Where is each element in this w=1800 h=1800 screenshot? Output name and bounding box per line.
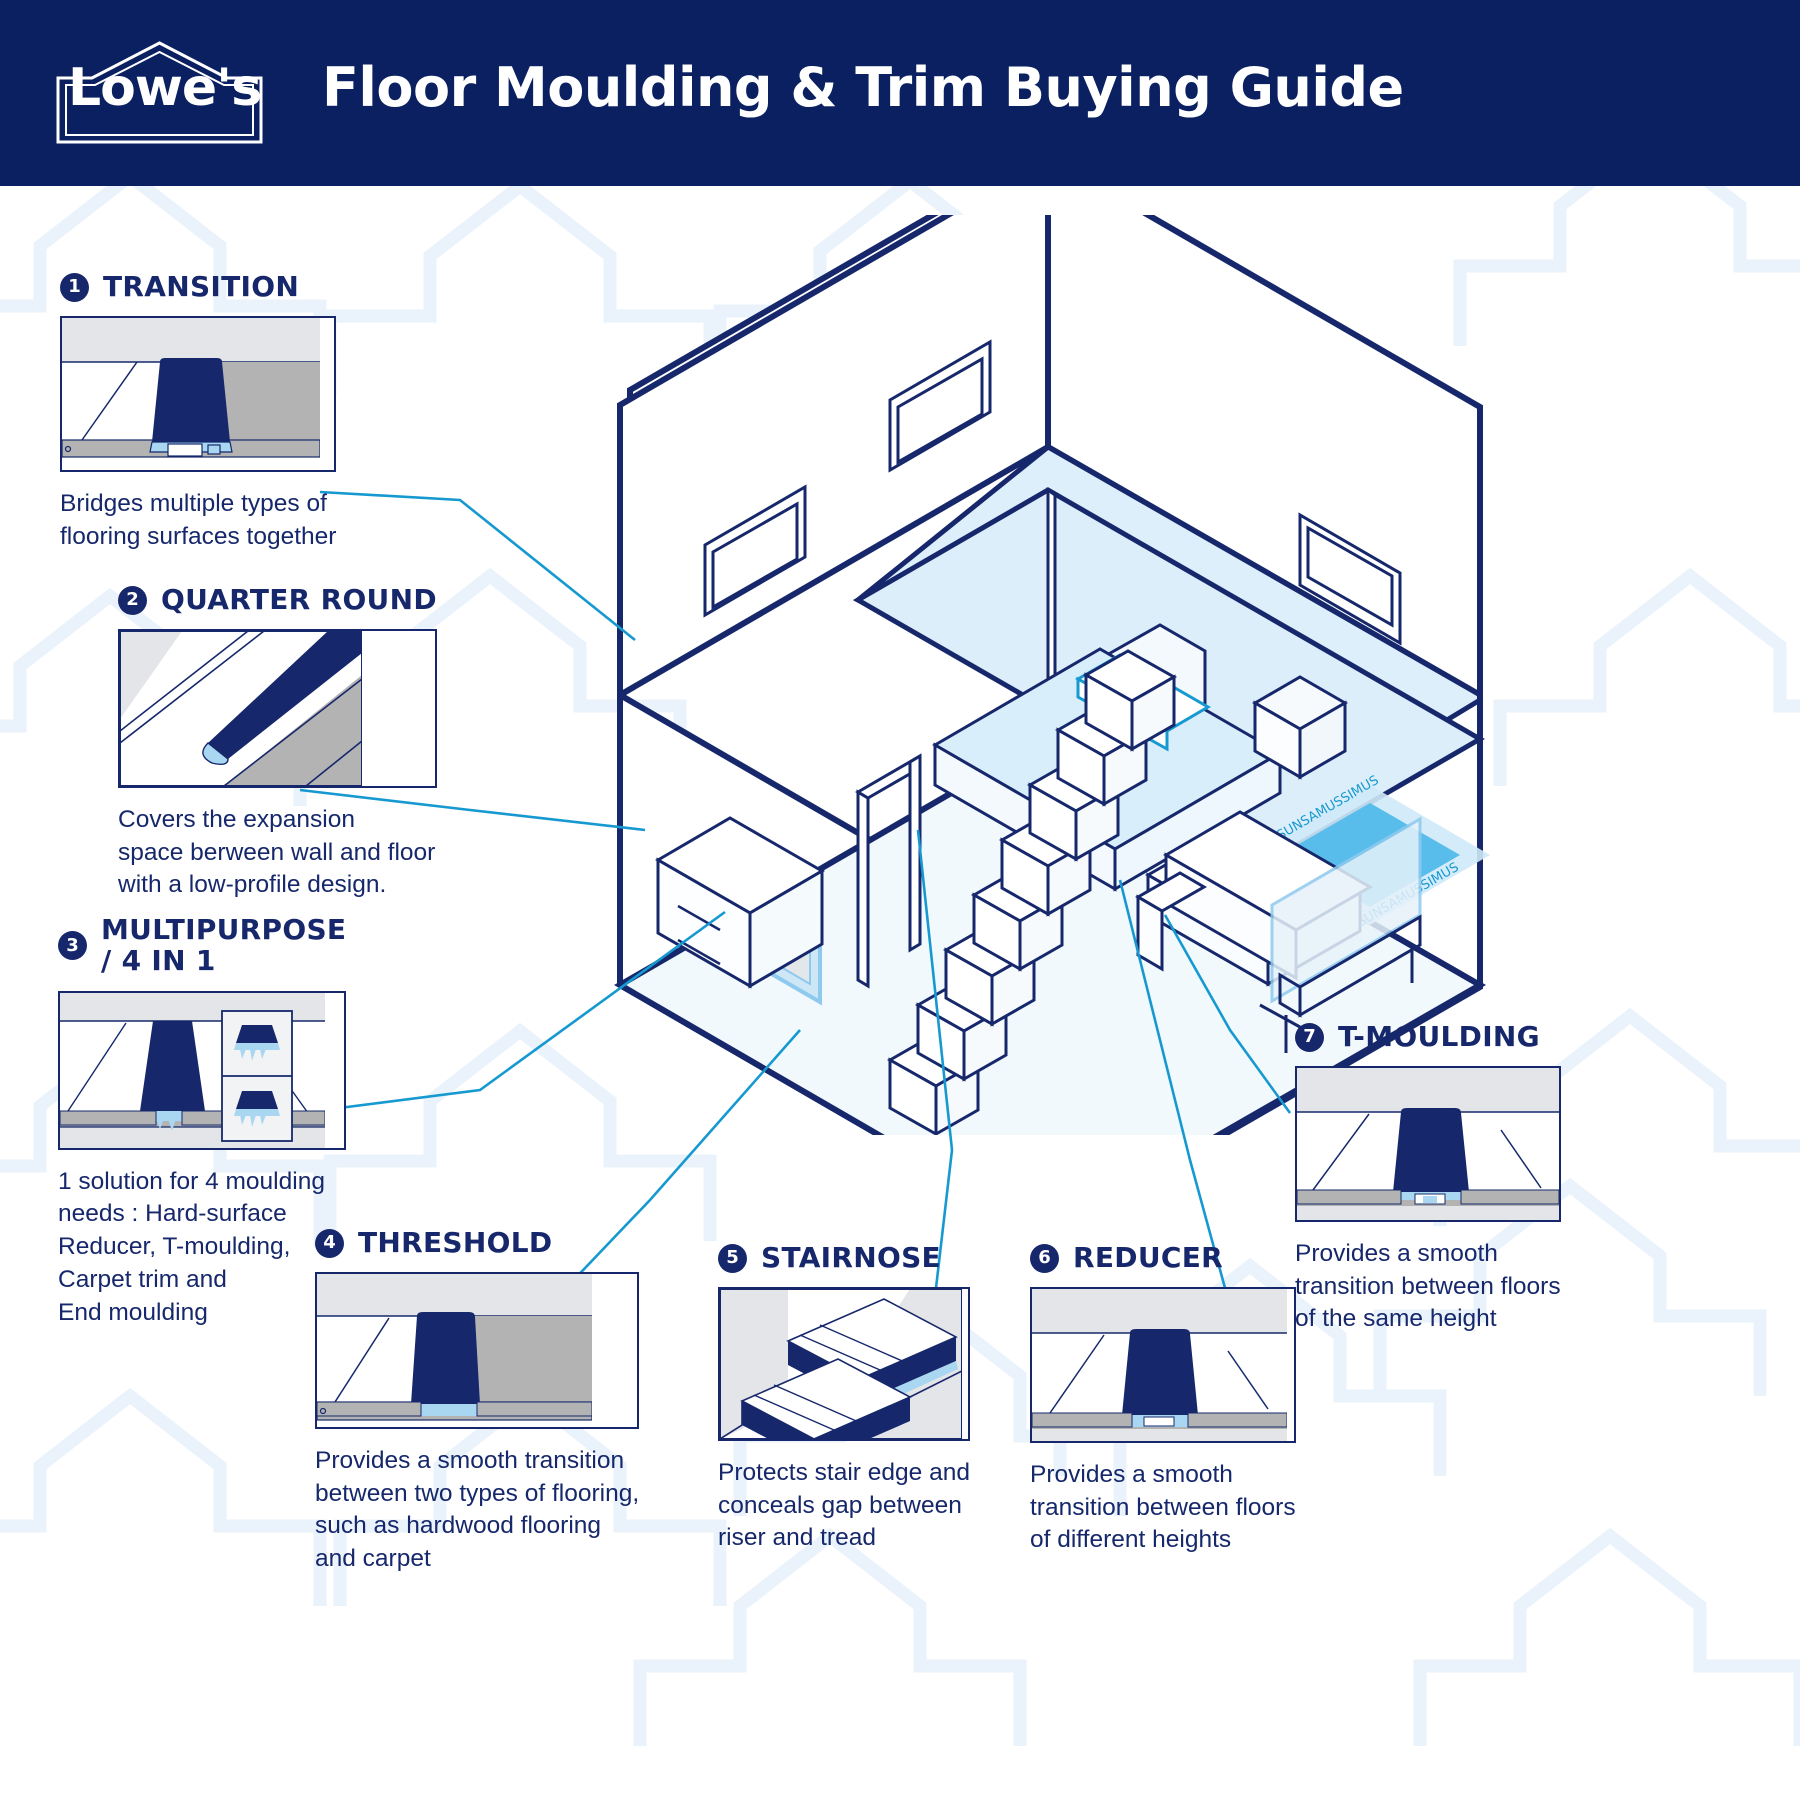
callout-description: Bridges multiple types of flooring surfa…: [60, 488, 336, 554]
callout-header: 1 TRANSITION: [60, 272, 336, 303]
page-title: Floor Moulding & Trim Buying Guide: [322, 56, 1404, 119]
callout-title: TRANSITION: [103, 272, 299, 303]
callout-threshold: 4 THRESHOLD Provides a smooth transition…: [315, 1228, 639, 1576]
callout-number-badge: 4: [315, 1229, 344, 1258]
callout-title: REDUCER: [1073, 1243, 1223, 1274]
callout-number-badge: 1: [60, 273, 89, 302]
callout-quarter-round: 2 QUARTER ROUND Covers the expansion spa…: [118, 585, 437, 902]
callout-number-badge: 5: [718, 1244, 747, 1273]
isometric-cutaway-house: SUNSAMUSSIMUS SUNSAMUSSIMUS: [600, 215, 1560, 1135]
callout-header: 3 MULTIPURPOSE / 4 IN 1: [58, 915, 346, 977]
quarter-round-diagram: [118, 629, 437, 788]
callout-header: 7 T-MOULDING: [1295, 1022, 1561, 1053]
multipurpose-profile-diagram: [58, 991, 346, 1150]
callout-description: 1 solution for 4 moulding needs : Hard-s…: [58, 1166, 346, 1330]
callout-number-badge: 2: [118, 586, 147, 615]
t-moulding-profile-diagram: [1295, 1066, 1561, 1222]
callout-description: Covers the expansion space berween wall …: [118, 804, 437, 902]
lowes-logo-text: Lowe's: [68, 62, 248, 114]
threshold-profile-diagram: [315, 1272, 639, 1429]
callout-header: 2 QUARTER ROUND: [118, 585, 437, 616]
stairnose-diagram: [718, 1287, 970, 1441]
callout-multipurpose: 3 MULTIPURPOSE / 4 IN 1: [58, 915, 346, 1330]
callout-title: QUARTER ROUND: [161, 585, 437, 616]
callout-number-badge: 3: [58, 931, 87, 960]
reducer-profile-diagram: [1030, 1287, 1296, 1443]
callout-description: Provides a smooth transition between flo…: [1295, 1238, 1561, 1336]
callout-number-badge: 7: [1295, 1023, 1324, 1052]
callout-stairnose: 5 STAIRNOSE Protects stair edge and conc…: [718, 1243, 970, 1555]
callout-header: 5 STAIRNOSE: [718, 1243, 970, 1274]
callout-description: Provides a smooth transition between flo…: [1030, 1459, 1296, 1557]
callout-title: MULTIPURPOSE / 4 IN 1: [101, 915, 346, 977]
callout-description: Protects stair edge and conceals gap bet…: [718, 1457, 970, 1555]
callout-number-badge: 6: [1030, 1244, 1059, 1273]
callout-header: 6 REDUCER: [1030, 1243, 1296, 1274]
callout-title: STAIRNOSE: [761, 1243, 941, 1274]
page-header: Lowe's Floor Moulding & Trim Buying Guid…: [0, 0, 1800, 186]
callout-description: Provides a smooth transition between two…: [315, 1445, 639, 1576]
callout-header: 4 THRESHOLD: [315, 1228, 639, 1259]
callout-title: T-MOULDING: [1338, 1022, 1540, 1053]
callout-reducer: 6 REDUCER Provides a smooth transition b…: [1030, 1243, 1296, 1557]
transition-profile-diagram: [60, 316, 336, 472]
callout-t-moulding: 7 T-MOULDING Provides a smooth transitio…: [1295, 1022, 1561, 1336]
callout-transition: 1 TRANSITION Bridges multiple types of f…: [60, 272, 336, 553]
callout-title: THRESHOLD: [358, 1228, 552, 1259]
